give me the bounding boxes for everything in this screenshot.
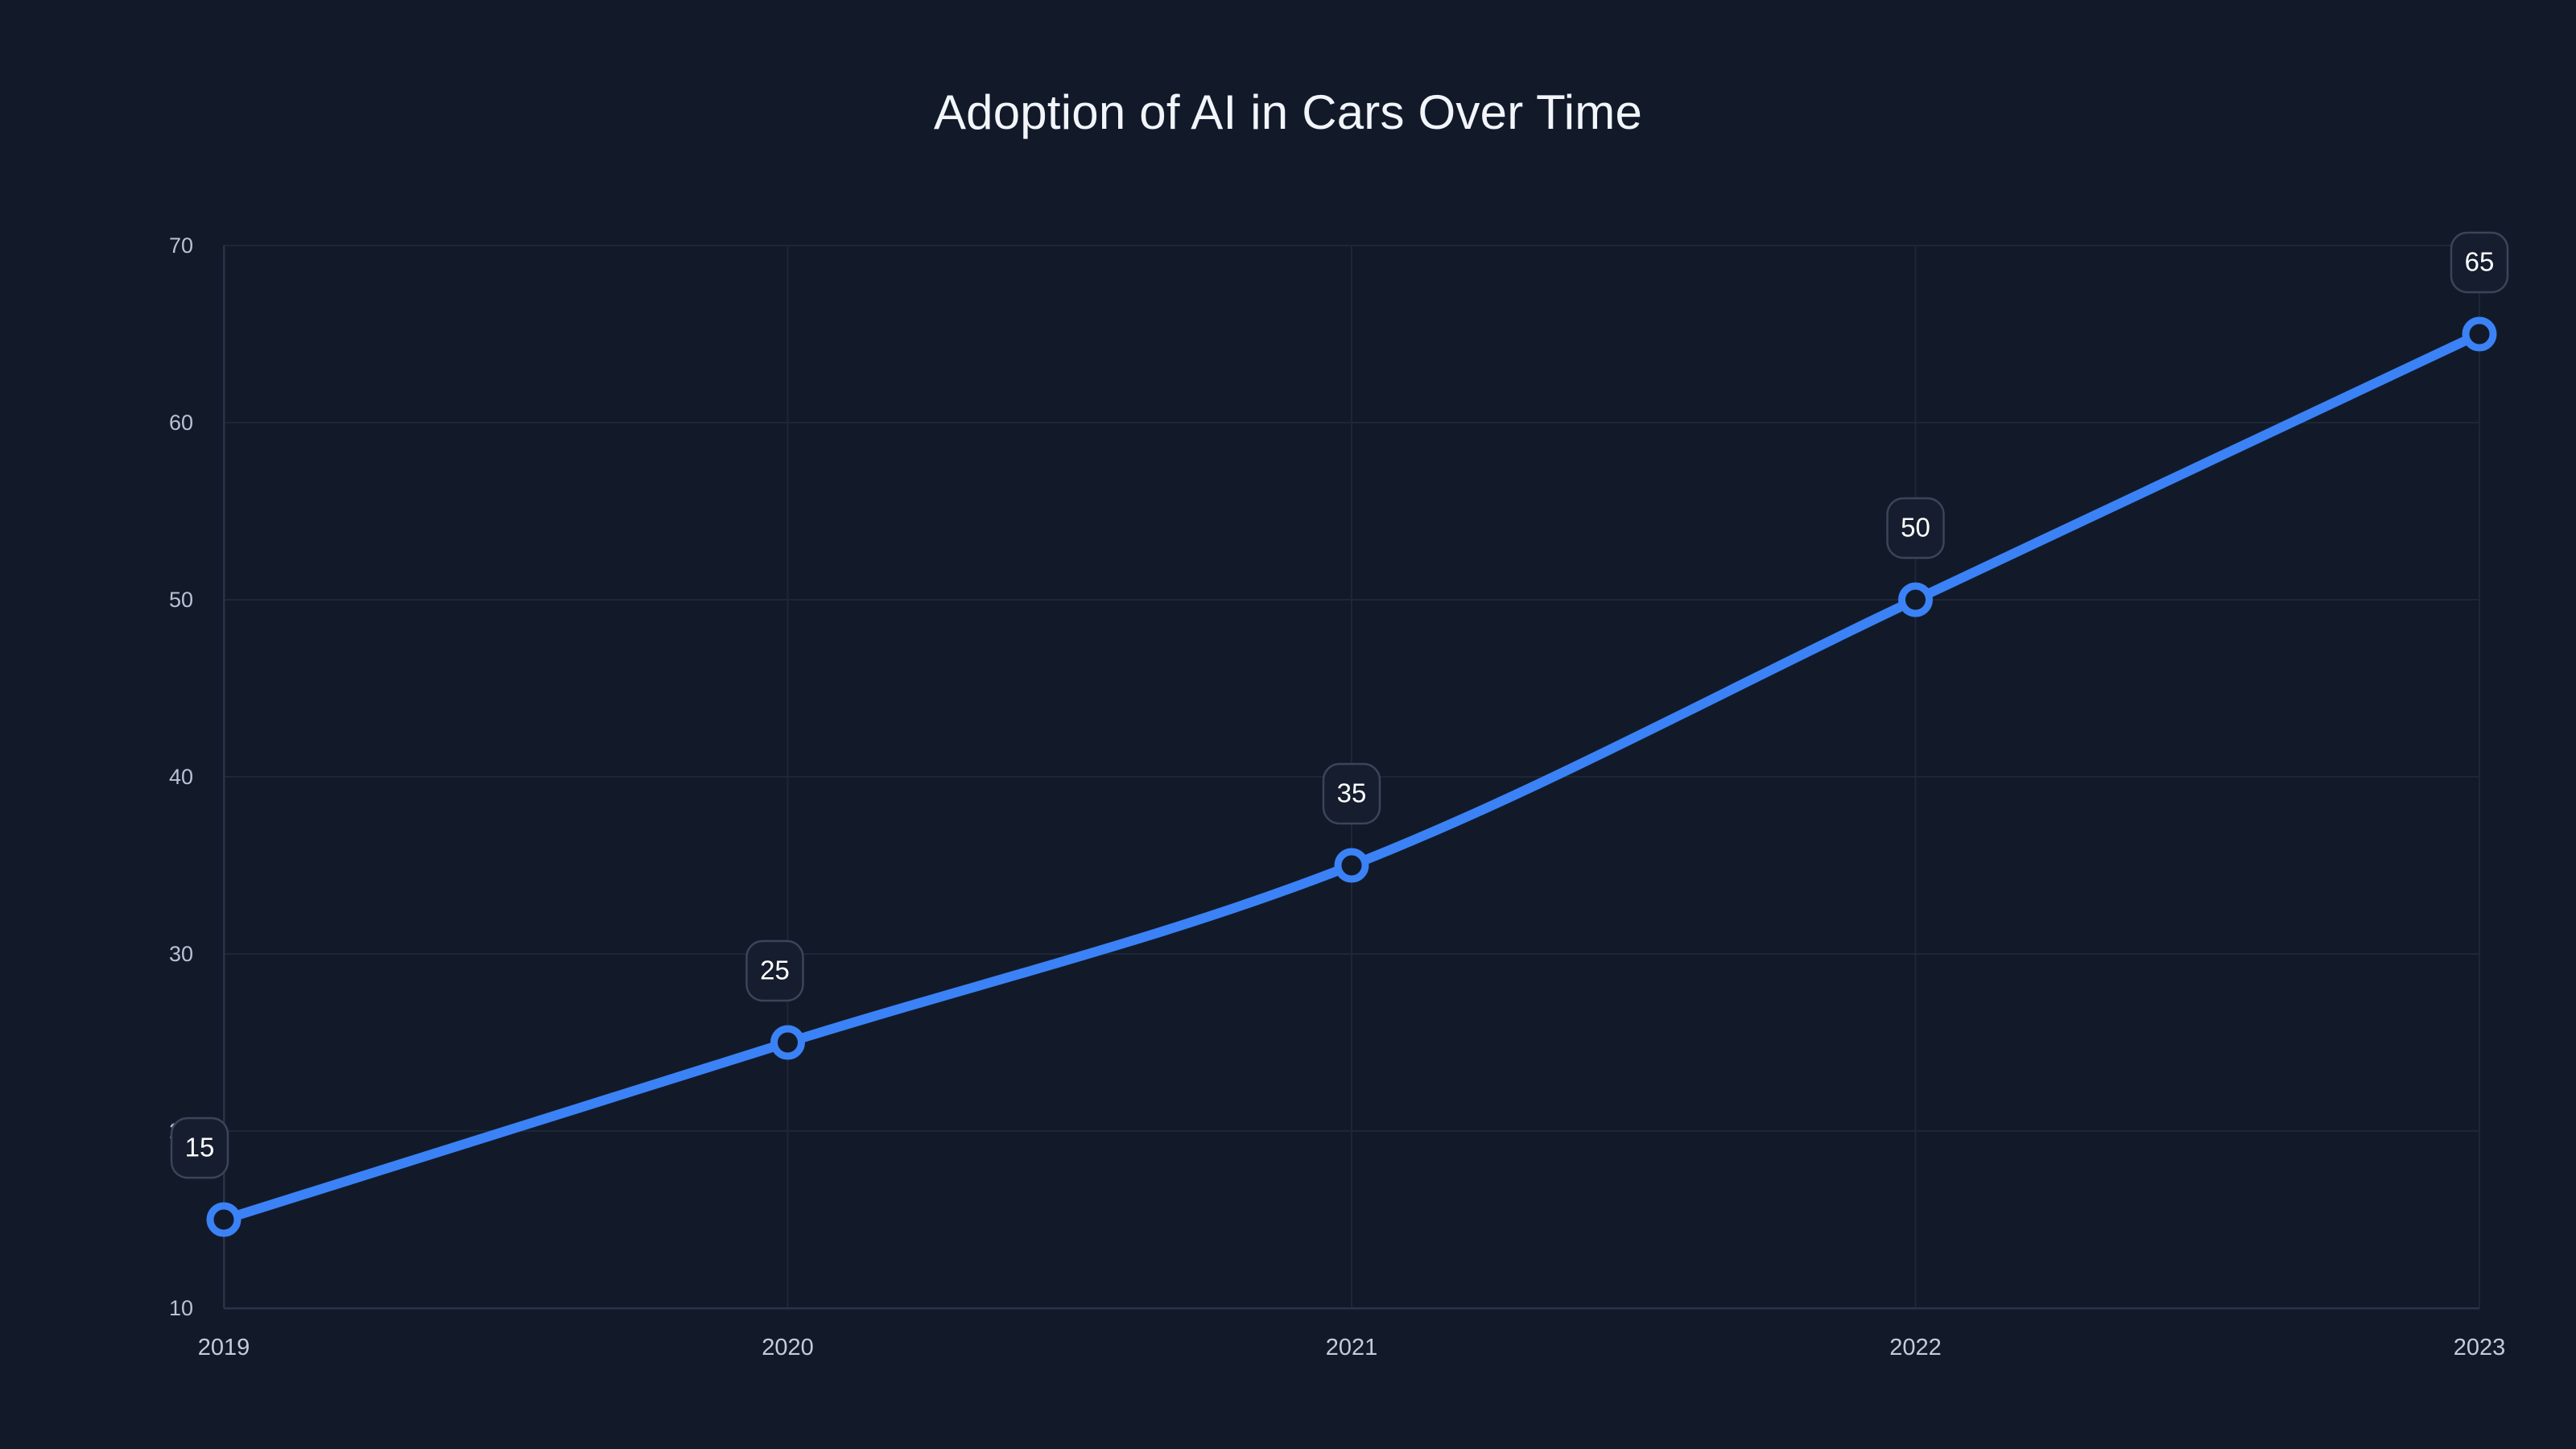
y-axis-tick-label: 30 [169, 942, 193, 966]
data-label-badge: 65 [2451, 233, 2508, 292]
data-label-value: 25 [760, 956, 790, 985]
y-axis-tick-label: 10 [169, 1296, 193, 1320]
y-axis-tick-label: 40 [169, 765, 193, 789]
data-label-badge: 25 [747, 941, 803, 1001]
y-axis-tick-label: 70 [169, 233, 193, 258]
data-label-badge: 35 [1323, 764, 1380, 824]
x-axis-tick-label: 2021 [1326, 1335, 1378, 1360]
x-axis-tick-label: 2019 [198, 1335, 250, 1360]
line-chart-plot: 10203040506070 20192020202120222023 1525… [0, 0, 2576, 1449]
data-point-marker[interactable] [774, 1029, 802, 1056]
data-label-value: 35 [1337, 778, 1367, 808]
x-axis-tick-label: 2022 [1889, 1335, 1942, 1360]
data-label-value: 15 [185, 1133, 215, 1162]
data-point-marker[interactable] [210, 1206, 237, 1233]
x-axis-tick-label: 2023 [2454, 1335, 2506, 1360]
y-axis-tick-label: 60 [169, 411, 193, 435]
data-point-marker[interactable] [1902, 586, 1930, 613]
y-axis-tick-label: 50 [169, 588, 193, 612]
x-axis-tick-label: 2020 [762, 1335, 814, 1360]
data-point-marker[interactable] [1338, 852, 1365, 879]
data-label-badge: 50 [1888, 498, 1944, 558]
data-point-marker[interactable] [2466, 320, 2493, 348]
chart-canvas: Adoption of AI in Cars Over Time Percent… [0, 0, 2576, 1449]
data-label-value: 65 [2465, 247, 2495, 277]
data-label-value: 50 [1901, 513, 1930, 543]
data-label-badge: 15 [171, 1118, 228, 1178]
data-labels-group: 1525355065 [171, 233, 2508, 1178]
x-axis-ticks-group: 20192020202120222023 [198, 1335, 2506, 1360]
